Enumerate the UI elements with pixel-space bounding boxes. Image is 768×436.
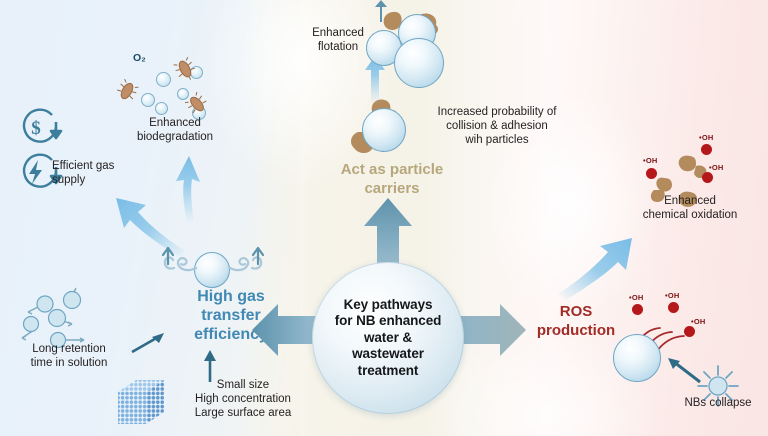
oh-radical xyxy=(702,172,713,183)
heading-ros-production: ROS production xyxy=(524,302,628,340)
flotation-top-arrow xyxy=(372,0,390,22)
oh-radical xyxy=(632,304,643,315)
label-enhanced-chemical-oxidation: Enhanced chemical oxidation xyxy=(620,194,760,222)
swirl-right-icon xyxy=(226,242,266,282)
oh-radical-label: •OH xyxy=(691,317,705,326)
dollar-cycle-icon: $ xyxy=(16,108,68,148)
bacteria-icon xyxy=(175,58,195,80)
collapsing-bubble xyxy=(613,334,661,382)
label-enhanced-biodegradation: Enhanced biodegradation xyxy=(124,116,226,144)
flow-arrow-oxidation xyxy=(556,210,652,296)
oh-radical-label: •OH xyxy=(665,291,679,300)
label-nbs-collapse: NBs collapse xyxy=(666,396,768,410)
central-hub-bubble: Key pathways for NB enhanced water & was… xyxy=(312,262,464,414)
packed-sphere-cube-icon xyxy=(116,378,172,430)
flotation-bubble xyxy=(394,38,444,88)
bacteria-icon xyxy=(116,80,138,102)
hub-arrow-left xyxy=(250,302,322,358)
label-collision-adhesion: Increased probability of collision & adh… xyxy=(414,105,580,147)
bubble xyxy=(155,102,168,115)
oh-radical xyxy=(646,168,657,179)
bubble xyxy=(156,72,171,87)
hub-arrow-up xyxy=(362,196,414,270)
bacteria-icon xyxy=(186,92,208,116)
retention-bubbles-icon xyxy=(14,282,100,350)
diagram-canvas: Key pathways for NB enhanced water & was… xyxy=(0,0,768,436)
oh-radical-label: •OH xyxy=(629,293,643,302)
heading-particle-carriers: Act as particle carriers xyxy=(320,160,464,198)
hub-title: Key pathways for NB enhanced water & was… xyxy=(335,297,442,380)
oh-radical xyxy=(701,144,712,155)
bubble xyxy=(141,93,155,107)
label-nb-properties: Small size High concentration Large surf… xyxy=(180,378,306,420)
oh-radical-label: •OH xyxy=(709,163,723,172)
label-enhanced-flotation: Enhanced flotation xyxy=(296,26,380,54)
svg-text:$: $ xyxy=(31,118,41,139)
oh-radical xyxy=(668,302,679,313)
oh-radical-label: •OH xyxy=(699,133,713,142)
label-o2: O₂ xyxy=(133,52,146,64)
carrier-bubble xyxy=(362,108,406,152)
arrow-retention-to-heading xyxy=(130,330,170,358)
swirl-left-icon xyxy=(160,242,200,282)
label-long-retention: Long retention time in solution xyxy=(10,342,128,370)
hub-arrow-right xyxy=(456,302,528,358)
oh-radical-label: •OH xyxy=(643,156,657,165)
